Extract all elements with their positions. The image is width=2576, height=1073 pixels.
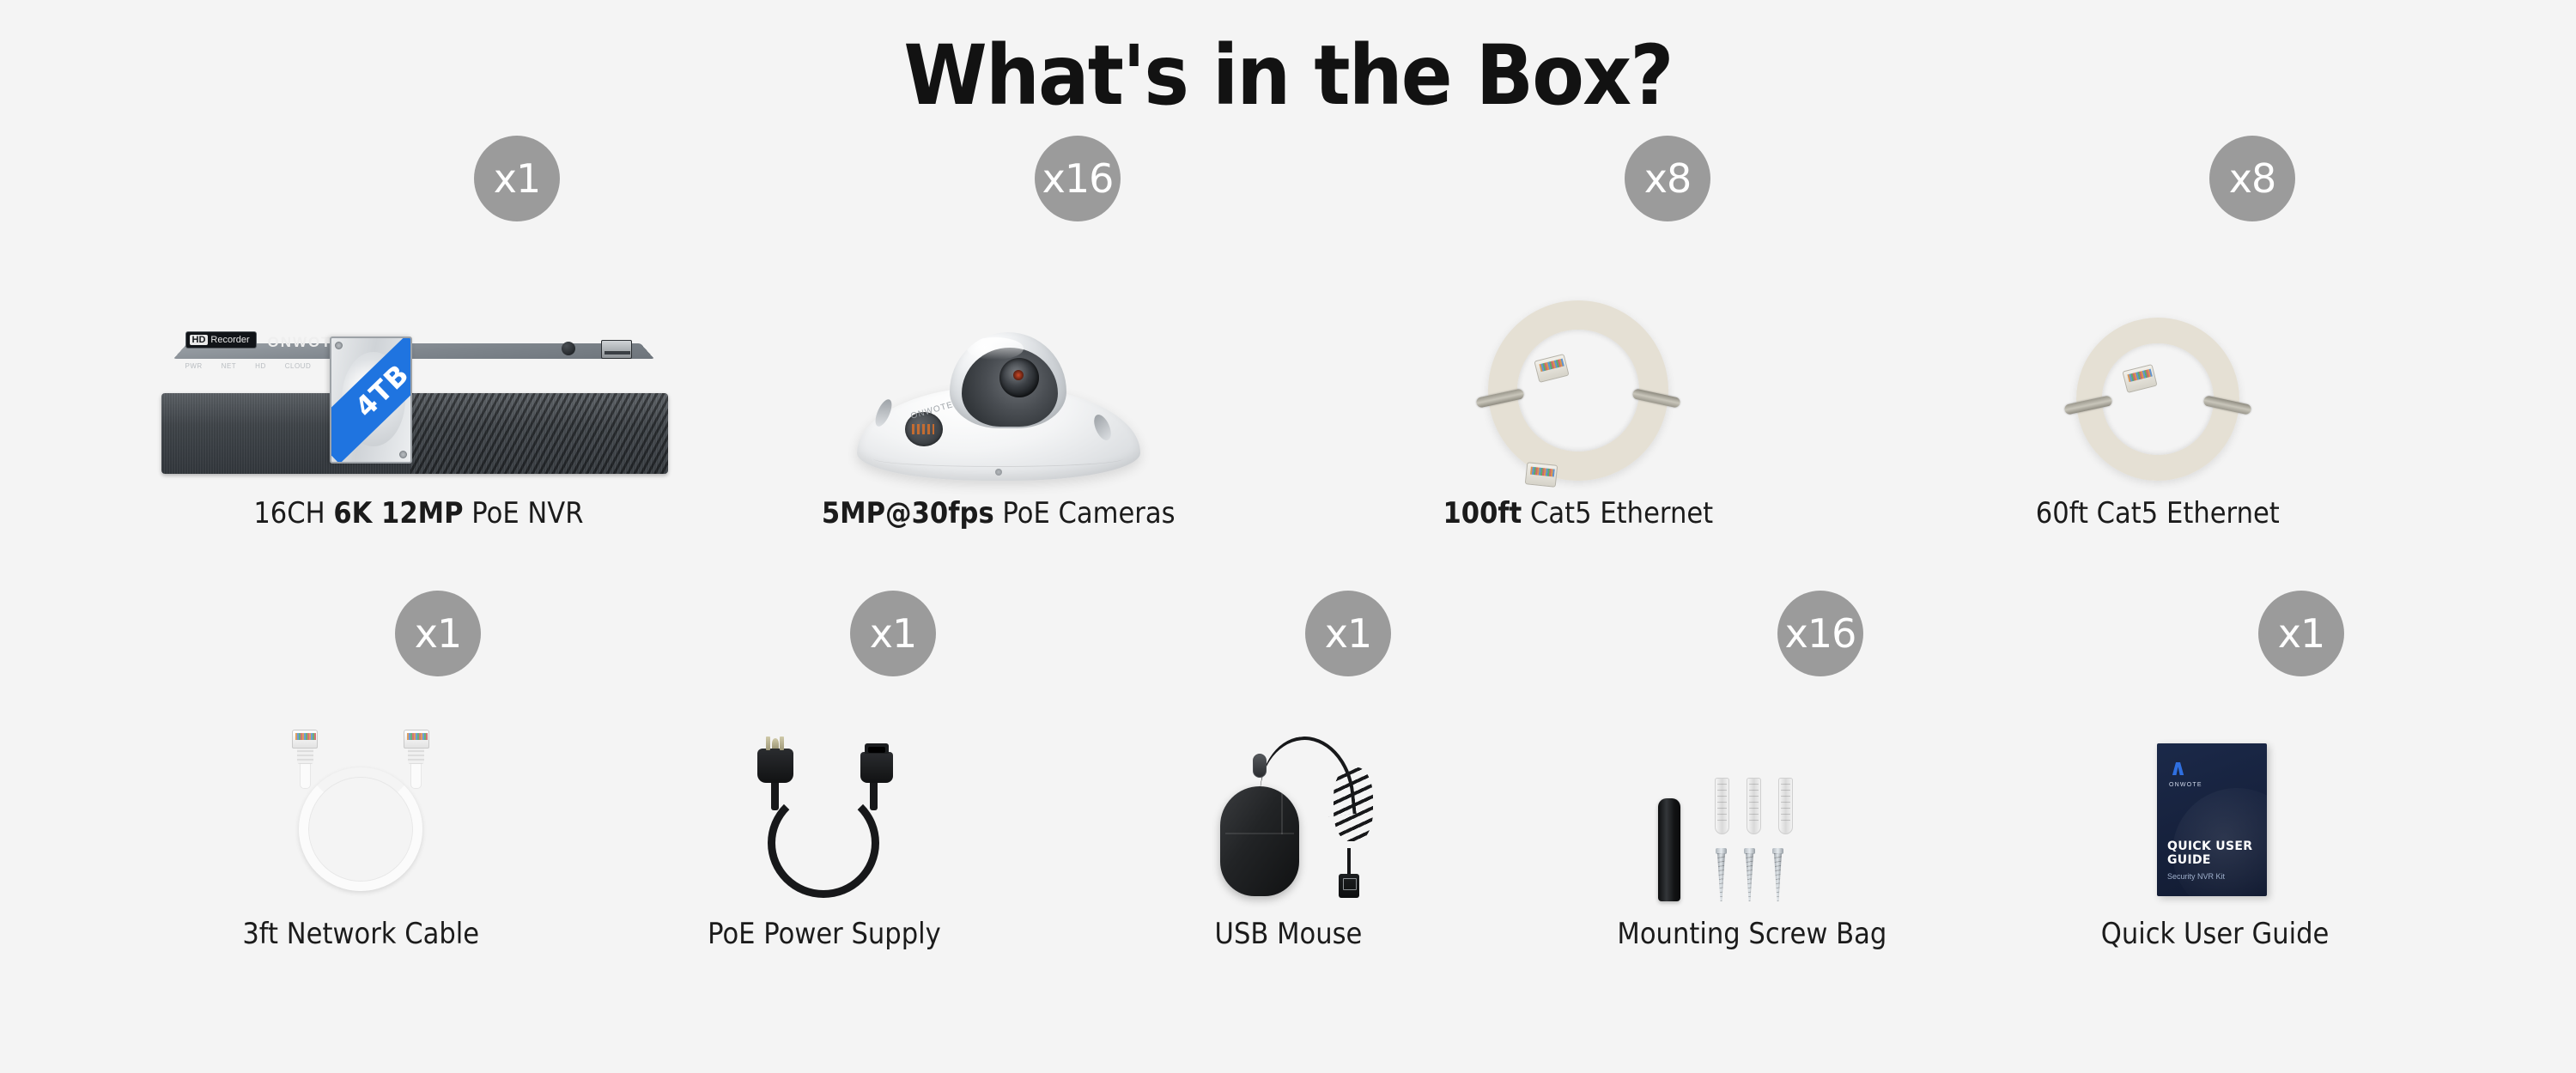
plug-ground-pin (772, 738, 779, 749)
guide-cover-title: QUICK USER GUIDE (2167, 840, 2267, 867)
screw-shaft (1774, 853, 1782, 901)
wall-anchor (1715, 778, 1729, 834)
qty-badge-cameras: x16 (1035, 136, 1121, 221)
qty-badge-poe-power-supply: x1 (850, 591, 936, 676)
nvr-device: HD Recorder ONWOTE PWR NET HD CLOUD (161, 309, 677, 481)
rj45-connector (1524, 462, 1558, 488)
qty-badge-cat5-100ft: x8 (1625, 136, 1710, 221)
mouse-body (1220, 786, 1299, 896)
caption-pre: 3ft Network Cable (242, 917, 479, 951)
usb-mouse-art (1056, 652, 1520, 901)
rj45-connector (292, 730, 318, 749)
item-usb-mouse[interactable]: x1 USB Mouse (1056, 652, 1520, 951)
screw-head (1716, 848, 1727, 854)
us-plug-icon (757, 749, 793, 783)
caption-nvr: 16CH 6K 12MP PoE NVR (253, 496, 583, 530)
qty-badge-mounting-screw-bag: x16 (1777, 591, 1863, 676)
caption-cat5-60ft: 60ft Cat5 Ethernet (2035, 496, 2279, 530)
page-title: What's in the Box? (103, 27, 2473, 124)
screw-head (1772, 848, 1783, 854)
hd-badge-mark: HD (190, 335, 209, 345)
user-guide-art: ∧ONWOTE QUICK USER GUIDE Security NVR Ki… (1984, 652, 2447, 901)
screw-shaft (1717, 853, 1725, 901)
caption-post: PoE NVR (464, 496, 584, 530)
nvr-led-cloud: CLOUD (285, 362, 312, 370)
patch-cable-loop (299, 767, 422, 891)
nvr-art: HD Recorder ONWOTE PWR NET HD CLOUD (129, 197, 708, 481)
cable-coil (1488, 300, 1668, 481)
mouse-cord-tail (1347, 848, 1351, 877)
caption-mounting-screw-bag: Mounting Screw Bag (1617, 917, 1886, 951)
power-cord-loop (768, 788, 879, 898)
caption-pre: USB Mouse (1214, 917, 1362, 951)
item-network-cable-3ft[interactable]: x1 3ft Network Cable (129, 652, 592, 951)
nvr-led-hd: HD (255, 362, 266, 370)
item-cat5-60ft[interactable]: x8 60ft Cat5 Ethernet (1868, 197, 2447, 530)
caption-pre: Quick User Guide (2101, 917, 2330, 951)
hard-drive-screw (335, 342, 343, 349)
caption-pre: 60ft Cat5 Ethernet (2035, 496, 2279, 530)
caption-poe-power-supply: PoE Power Supply (708, 917, 941, 951)
power-cord (738, 738, 910, 901)
onwote-logo-icon: ∧ONWOTE (2169, 757, 2202, 788)
plug-pin (780, 737, 784, 750)
caption-cameras: 5MP@30fps PoE Cameras (822, 496, 1176, 530)
item-cameras[interactable]: x16 ONWOTE 5MP@30fps PoE Ca (708, 197, 1288, 530)
item-poe-power-supply[interactable]: x1 PoE Power Supply (592, 652, 1056, 951)
nvr-led-pwr: PWR (185, 362, 203, 370)
caption-pre: Mounting Screw Bag (1617, 917, 1886, 951)
nvr-usb-port (601, 340, 632, 359)
user-guide-booklet: ∧ONWOTE QUICK USER GUIDE Security NVR Ki… (2138, 738, 2293, 901)
nvr-led-net: NET (222, 362, 237, 370)
hd-recorder-badge: HD Recorder (185, 331, 257, 349)
screw-group (1716, 848, 1783, 901)
wall-anchor (1747, 778, 1761, 834)
mouse-cord-coil (1334, 767, 1373, 841)
coil-center (2102, 343, 2214, 455)
mouse-button-split (1281, 790, 1283, 834)
qty-badge-quick-user-guide: x1 (2258, 591, 2344, 676)
qty-badge-usb-mouse: x1 (1305, 591, 1391, 676)
screw-shaft (1746, 853, 1753, 901)
cat5-100ft-art (1288, 197, 1868, 481)
cable-coil (2076, 318, 2239, 481)
dome-camera: ONWOTE (857, 330, 1140, 481)
item-mounting-screw-bag[interactable]: x16 Mounting Screw B (1520, 652, 1984, 951)
camera-art: ONWOTE (708, 197, 1288, 481)
caption-cat5-100ft: 100ft Cat5 Ethernet (1443, 496, 1713, 530)
hard-drive: 4TB (330, 336, 412, 464)
patch-cable (275, 730, 447, 901)
caption-strong: 5MP@30fps (822, 496, 994, 530)
caption-usb-mouse: USB Mouse (1214, 917, 1362, 951)
qty-badge-network-cable-3ft: x1 (395, 591, 481, 676)
caption-pre: 16CH (253, 496, 333, 530)
wall-anchor-group (1715, 778, 1793, 834)
screw-bag-art (1520, 652, 1984, 901)
item-cat5-100ft[interactable]: x8 100ft Cat5 Ethernet (1288, 197, 1868, 530)
cat5-60ft-art (1868, 197, 2447, 481)
dome-bubble (950, 332, 1066, 428)
qty-badge-nvr: x1 (474, 136, 560, 221)
guide-logo-text: ONWOTE (2169, 782, 2202, 788)
dome-glare (967, 337, 1024, 360)
caption-network-cable-3ft: 3ft Network Cable (242, 917, 479, 951)
screw (1745, 848, 1754, 901)
nvr-front-panel (161, 393, 668, 474)
product-row-1: x1 HD Recorder ONWOTE PWR NET HD CLOUD (129, 197, 2447, 530)
caption-post: PoE Cameras (993, 496, 1175, 530)
nvr-led-row: PWR NET HD CLOUD (185, 362, 312, 370)
hd-badge-text: Recorder (210, 335, 249, 345)
dome-screw (995, 469, 1002, 476)
caption-post: Cat5 Ethernet (1522, 496, 1713, 530)
screw (1716, 848, 1726, 901)
caption-pre: PoE Power Supply (708, 917, 941, 951)
camera-lens-icon (999, 358, 1039, 397)
power-supply-art (592, 652, 1056, 901)
screw (1773, 848, 1783, 901)
nvr-power-knob (562, 342, 575, 355)
usb-mouse (1198, 738, 1378, 901)
whats-in-the-box-page: What's in the Box? x1 HD Recorder ONWOTE… (0, 0, 2576, 1073)
mouse-scroll-wheel (1253, 754, 1267, 778)
plug-pin (766, 737, 770, 750)
rj45-connector (404, 730, 429, 749)
drill-bit-icon (1658, 798, 1680, 901)
coil-center (1517, 330, 1639, 452)
iec-connector-icon (860, 752, 893, 783)
product-row-2: x1 3ft Network Cable x1 (129, 652, 2447, 951)
item-nvr[interactable]: x1 HD Recorder ONWOTE PWR NET HD CLOUD (129, 197, 708, 530)
guide-cover-subtitle: Security NVR Kit (2167, 872, 2225, 881)
item-quick-user-guide[interactable]: x1 ∧ONWOTE QUICK USER GUIDE Security NVR… (1984, 652, 2447, 951)
usb-plug-icon (1339, 874, 1359, 898)
caption-strong: 6K 12MP (333, 496, 463, 530)
wall-anchor (1778, 778, 1793, 834)
hard-drive-screw (399, 451, 407, 458)
guide-cover: ∧ONWOTE QUICK USER GUIDE Security NVR Ki… (2157, 743, 2267, 896)
caption-quick-user-guide: Quick User Guide (2101, 917, 2330, 951)
network-cable-art (129, 652, 592, 901)
qty-badge-cat5-60ft: x8 (2209, 136, 2295, 221)
mounting-hardware (1653, 773, 1850, 901)
screw-head (1744, 848, 1755, 854)
caption-strong: 100ft (1443, 496, 1522, 530)
